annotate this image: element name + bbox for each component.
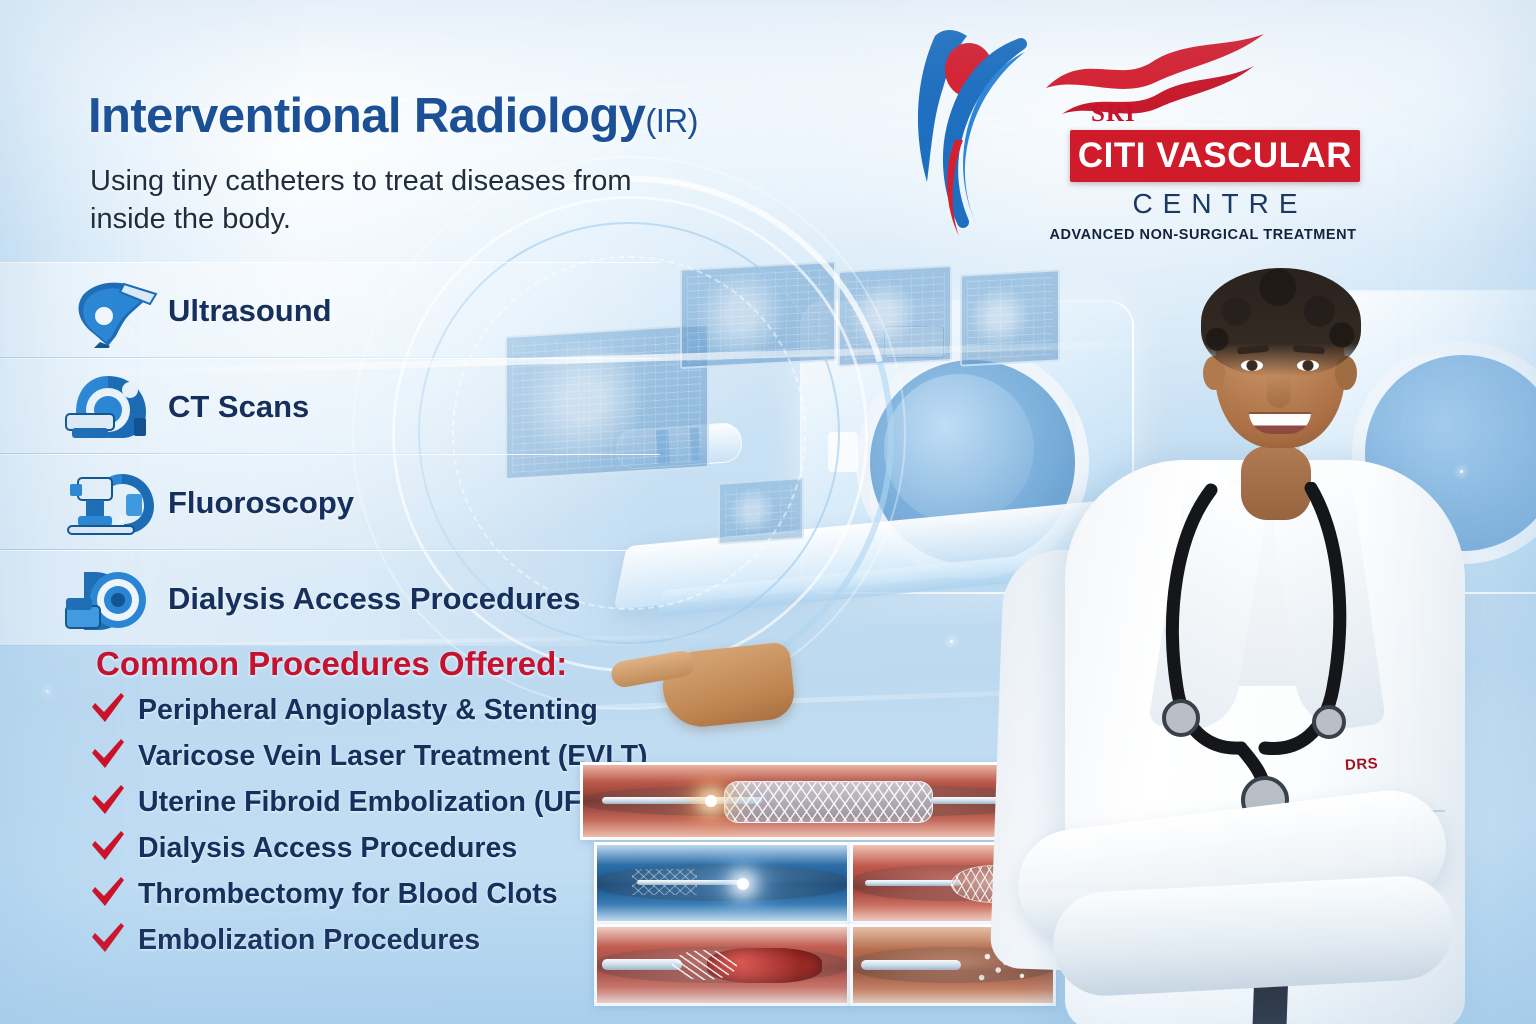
doctor-hair [1201,268,1361,376]
procedures-title: Common Procedures Offered: [96,645,567,683]
red-checkmark-icon [90,922,126,956]
ct-scanner-icon [64,370,160,444]
red-checkmark-icon [90,784,126,818]
service-row-ultrasound[interactable]: Ultrasound [0,262,660,358]
brand-logo[interactable]: SRI CITI VASCULAR CENTRE ADVANCED NON-SU… [905,22,1375,250]
logo-name: CITI VASCULAR [1070,130,1360,182]
procedure-label: Embolization Procedures [138,920,480,960]
sparkle [46,690,49,693]
page-title-abbrev: (IR) [645,102,698,139]
doctor-coat-badge: DRS [1345,755,1379,774]
dialysis-ring-icon [64,562,160,636]
procedure-item[interactable]: Peripheral Angioplasty & Stenting [90,690,710,732]
service-label: Ultrasound [168,293,332,329]
doctor-eye-right [1297,360,1319,371]
page-title: Interventional Radiology(IR) [88,88,698,144]
services-list: Ultrasound CT Scans [0,262,660,646]
page-subtitle: Using tiny catheters to treat diseases f… [90,162,690,239]
service-label: CT Scans [168,389,309,425]
red-checkmark-icon [90,830,126,864]
ultrasound-probe-icon [64,274,160,348]
doctor-nose [1267,374,1291,408]
red-checkmark-icon [90,738,126,772]
service-row-fluoroscopy[interactable]: Fluoroscopy [0,454,660,550]
logo-centre-word: CENTRE [1070,188,1360,220]
poster-root: Interventional Radiology(IR) Using tiny … [0,0,1536,1024]
procedure-label: Thrombectomy for Blood Clots [138,874,558,914]
service-row-ct-scans[interactable]: CT Scans [0,358,660,454]
procedure-label: Dialysis Access Procedures [138,828,517,868]
doctor-eye-left [1241,360,1263,371]
service-label: Dialysis Access Procedures [168,581,580,617]
doctor-arm-lower [1051,874,1456,999]
procedure-label: Peripheral Angioplasty & Stenting [138,690,598,730]
service-label: Fluoroscopy [168,485,354,521]
procedure-label: Uterine Fibroid Embolization (UFE) [138,782,610,822]
logo-prefix: SRI [1091,100,1136,128]
logo-ribbon-waves-icon [1040,32,1270,122]
red-checkmark-icon [90,692,126,726]
logo-tagline: ADVANCED NON-SURGICAL TREATMENT [1033,227,1373,243]
service-row-dialysis[interactable]: Dialysis Access Procedures [0,550,660,646]
c-arm-fluoroscopy-icon [64,466,160,540]
page-title-main: Interventional Radiology [88,89,645,143]
red-checkmark-icon [90,876,126,910]
doctor-portrait: DRS [645,250,1505,1024]
logo-name-band: CITI VASCULAR [1070,130,1360,182]
